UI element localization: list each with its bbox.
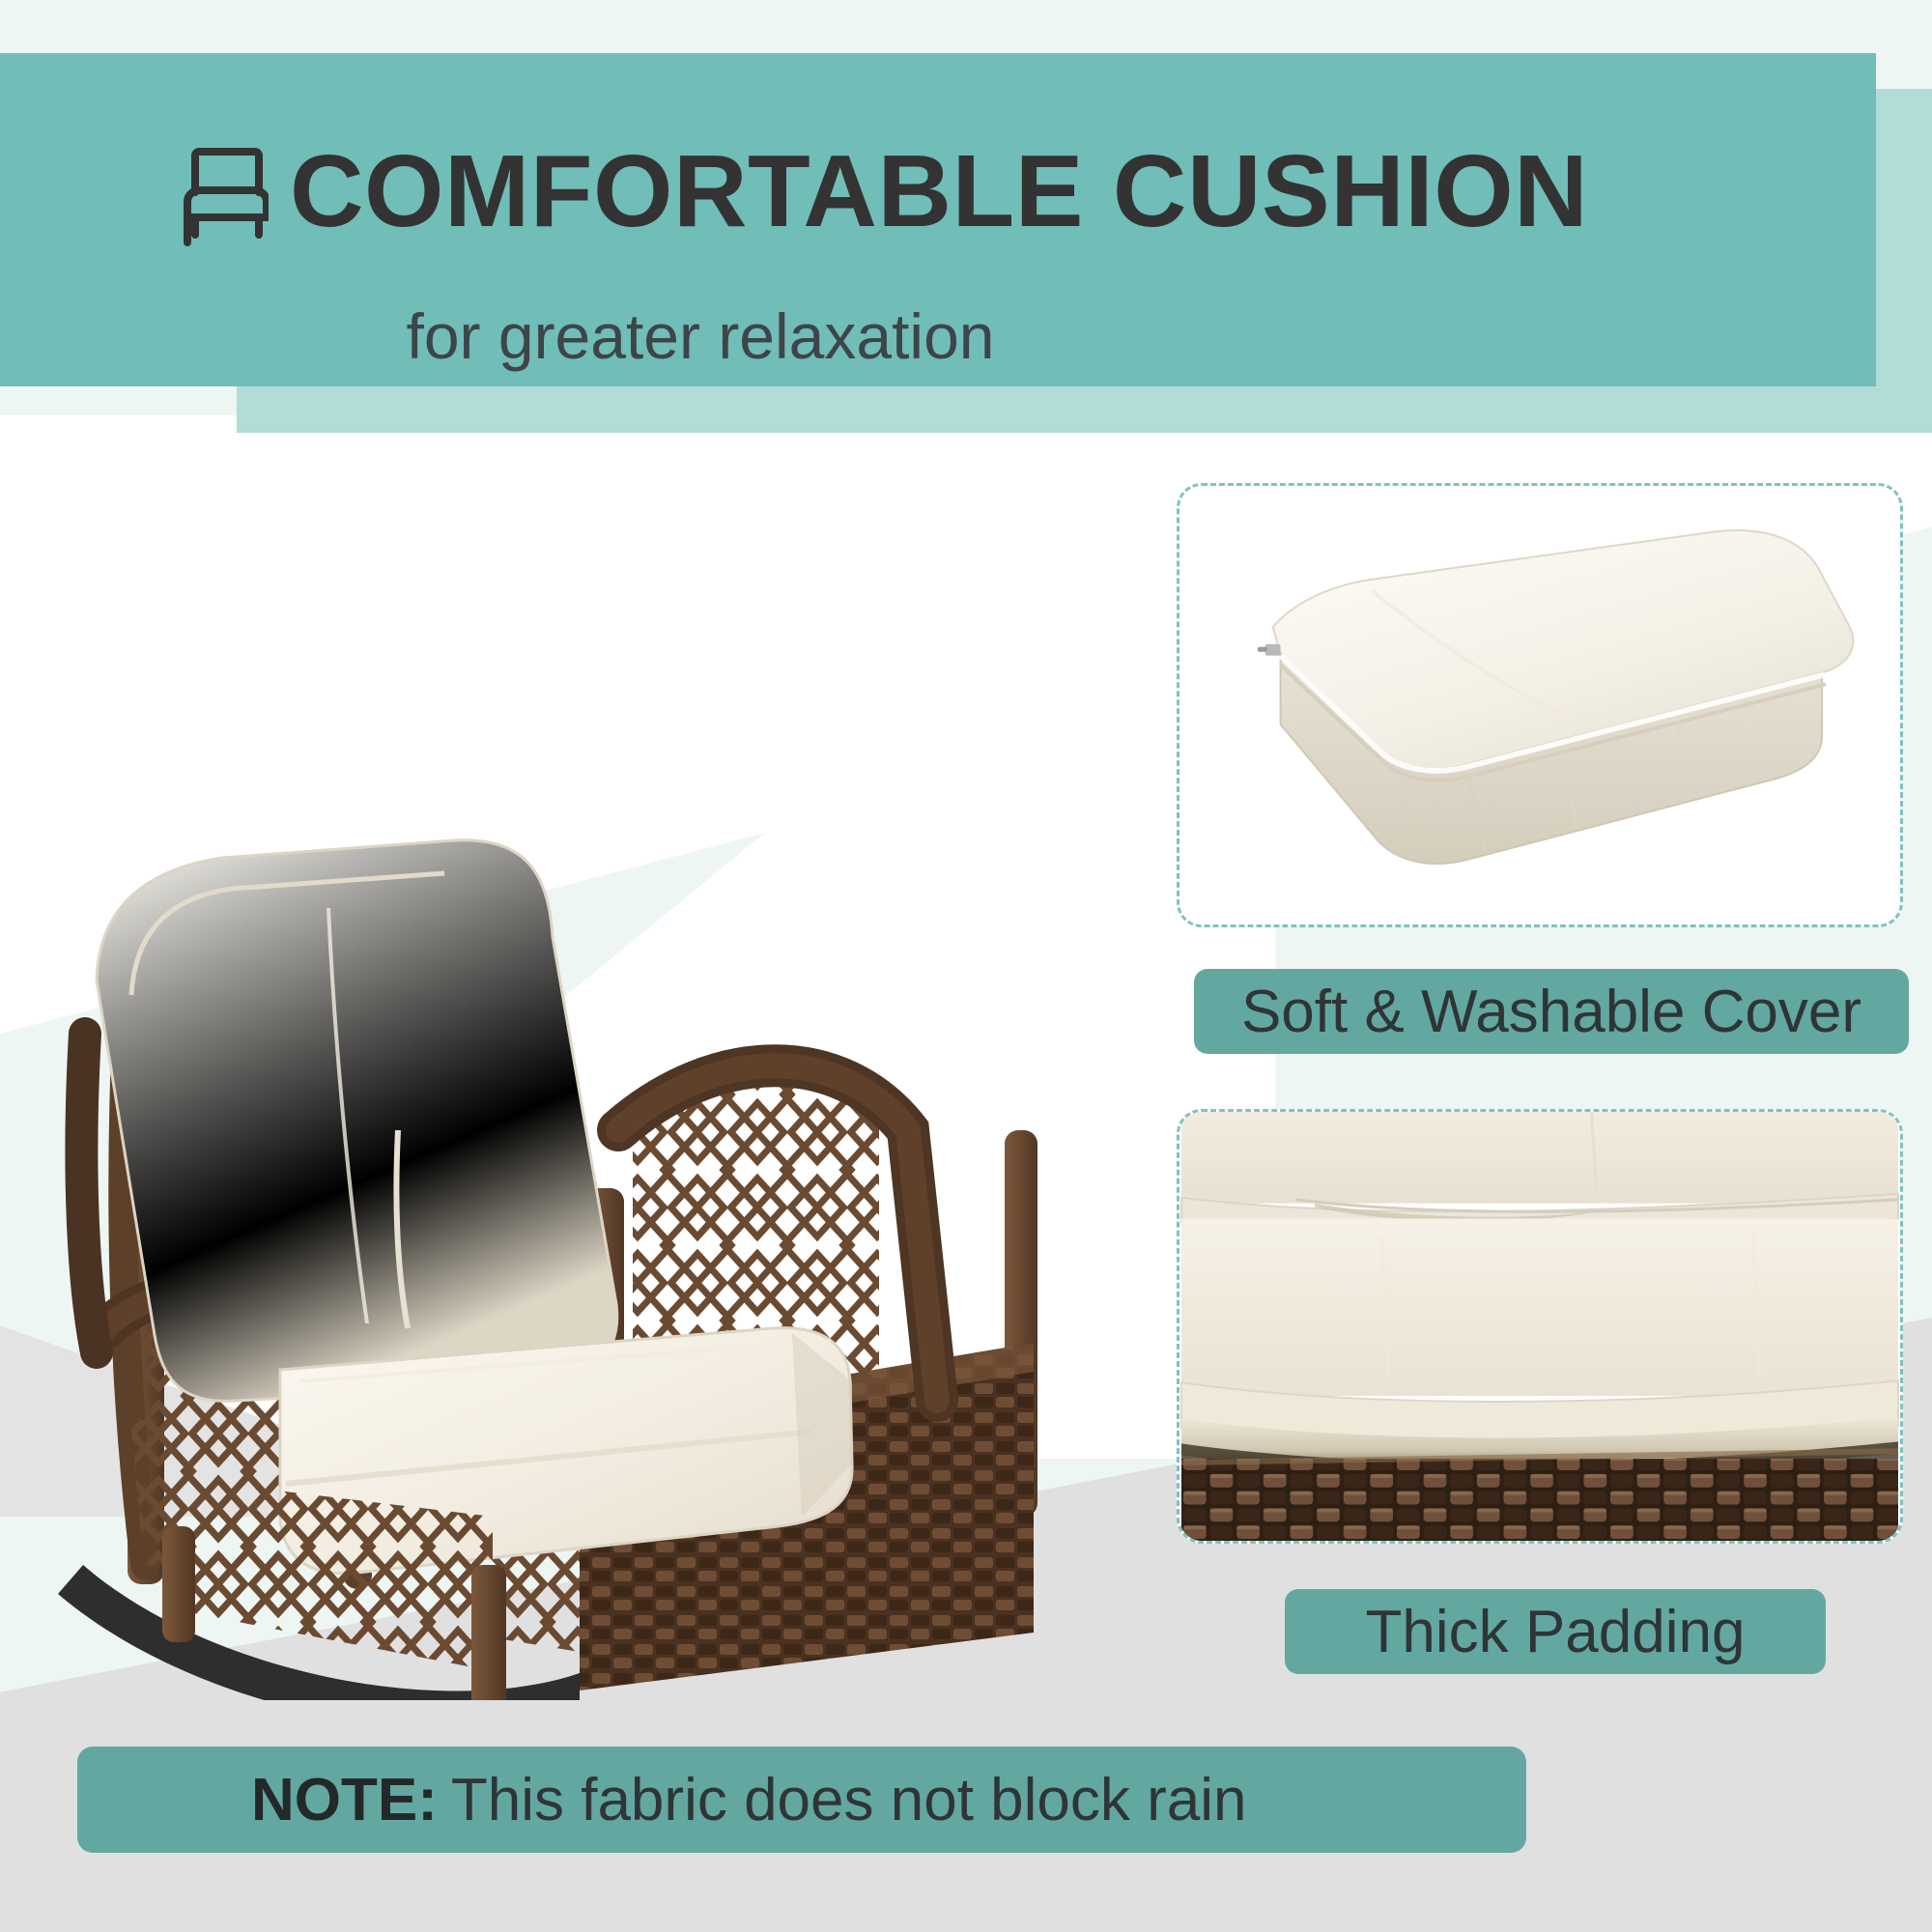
panel-soft-washable-cover: [1177, 483, 1903, 927]
note-label: NOTE:: [251, 1766, 438, 1834]
header-band: COMFORTABLE CUSHION for greater relaxati…: [0, 53, 1876, 386]
chair-icon: [166, 142, 269, 248]
header-shadow-band-right: [1876, 89, 1932, 429]
product-feature-poster: COMFORTABLE CUSHION for greater relaxati…: [0, 0, 1932, 1932]
note-text: This fabric does not block rain: [451, 1766, 1247, 1834]
page-subtitle: for greater relaxation: [0, 299, 1401, 373]
note-bar: NOTE: This fabric does not block rain: [77, 1747, 1526, 1853]
label-soft-washable-cover: Soft & Washable Cover: [1194, 969, 1909, 1054]
label-thick-padding: Thick Padding: [1285, 1589, 1826, 1674]
hero-product-image: [39, 454, 1150, 1700]
page-title: COMFORTABLE CUSHION: [290, 138, 1739, 245]
header-shadow-band: [237, 386, 1932, 433]
panel-thick-padding: [1177, 1109, 1903, 1544]
